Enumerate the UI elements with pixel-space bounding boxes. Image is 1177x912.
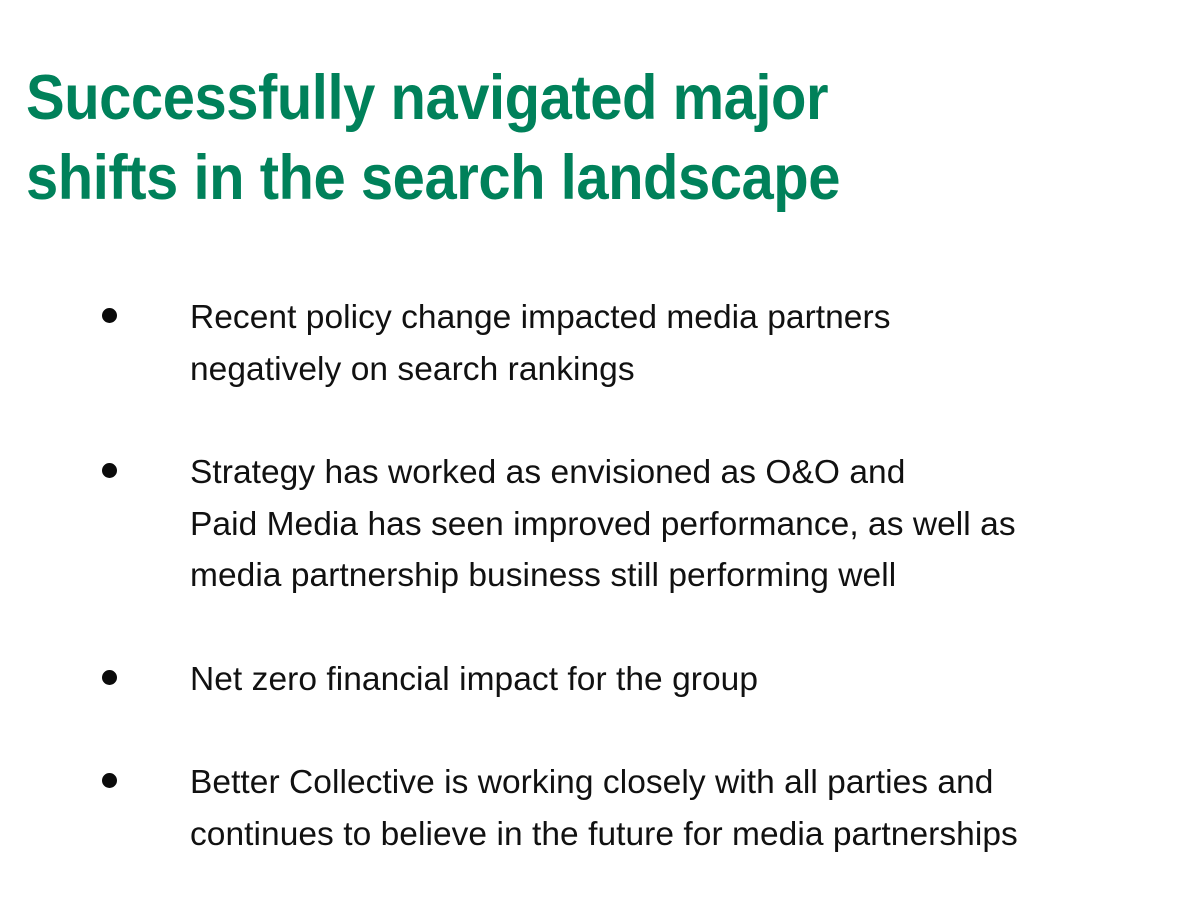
list-item: Better Collective is working closely wit… <box>96 757 1156 860</box>
list-item: Recent policy change impacted media part… <box>96 292 1156 395</box>
list-item: Strategy has worked as envisioned as O&O… <box>96 447 1156 602</box>
bullet-list: Recent policy change impacted media part… <box>96 292 1156 860</box>
bullet-dot-icon <box>102 670 117 685</box>
bullet-dot-icon <box>102 308 117 323</box>
bullet-dot-icon <box>102 463 117 478</box>
page-title: Successfully navigated major shifts in t… <box>26 58 1001 218</box>
presentation-slide: Successfully navigated major shifts in t… <box>0 0 1177 912</box>
list-item-text: Strategy has worked as envisioned as O&O… <box>190 447 1156 602</box>
bullet-dot-icon <box>102 773 117 788</box>
list-item: Net zero financial impact for the group <box>96 654 1156 706</box>
list-item-text: Recent policy change impacted media part… <box>190 292 1156 395</box>
list-item-text: Better Collective is working closely wit… <box>190 757 1156 860</box>
list-item-text: Net zero financial impact for the group <box>190 654 1156 706</box>
